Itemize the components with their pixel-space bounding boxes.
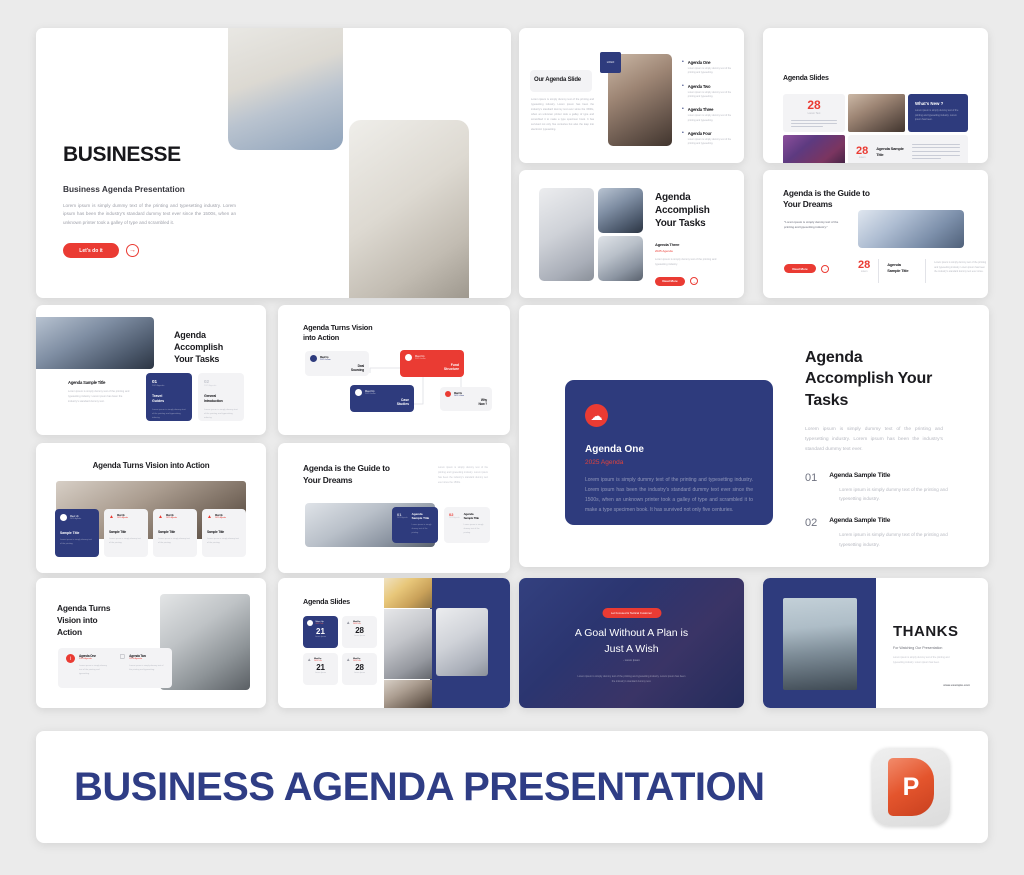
cover-cta-label: Let's do it (79, 248, 102, 254)
slide-quote[interactable]: Let Focused & Tactical Customer A Goal W… (519, 578, 744, 708)
card-body: Lorem ipsum is simply dummy text of the … (60, 538, 94, 546)
card-title: Agenda Sample Title (412, 512, 433, 520)
slide-vision-four[interactable]: Agenda Turns Vision into Action Meet Up … (36, 443, 266, 573)
card-dot-icon (60, 514, 67, 521)
accomplish-cards-photo (36, 317, 154, 369)
thanks-title: THANKS (893, 623, 959, 640)
stat-meta: 2025 Text (316, 623, 324, 625)
stat-card[interactable]: ▲ Meet Up 2025 Text 28 Lorem Ipsum (342, 653, 377, 685)
agenda-one-body: Lorem ipsum is simply dummy text of the … (585, 475, 753, 515)
bullet-icon: • (682, 84, 684, 100)
stat-meta: 2025 Text (353, 660, 361, 662)
stat-caption: Lorem (856, 157, 868, 159)
bullet-icon: • (682, 60, 684, 76)
our-agenda-title: Our Agenda Slide (534, 77, 581, 83)
accomplish-sub-label: Agenda Three (655, 242, 735, 247)
item-body: Lorem ipsum is simply dummy text of the … (829, 485, 955, 503)
card-meta: 2025 Agenda (204, 385, 238, 387)
stat-caption: Lorem Ipsum (346, 635, 373, 637)
our-agenda-body: Lorem ipsum is simply dummy text of the … (531, 98, 594, 132)
slide-thanks[interactable]: THANKS For Watching Our Presentation Lor… (763, 578, 988, 708)
node-meta: 2025 Lorem (365, 393, 376, 395)
card-title: Sample Title (207, 530, 241, 534)
guide-quote: "Lorem ipsum is simply dummy text of the… (784, 220, 839, 230)
card-number: 02 (204, 379, 238, 384)
vision-card[interactable]: Meet Up 2025 Agenda Sample Title Lorem i… (55, 509, 99, 557)
guide-split-title: Agenda is the Guide to Your Dreams (303, 463, 390, 487)
bookmark-icon: ▢ (120, 654, 126, 682)
info-card[interactable]: 01 2025 Agenda Travel Guides Lorem ipsum… (146, 373, 192, 421)
item-title: Agenda Sample Title (829, 472, 955, 479)
card-body: Lorem ipsum is simply dummy text of the … (109, 537, 143, 545)
stat-card[interactable]: ▲ Meet Up 2025 Text 21 Lorem Ipsum (303, 653, 338, 685)
bullet-icon: • (682, 131, 684, 147)
stat-caption: Lorem Ipsum (307, 672, 334, 674)
stat-dot-icon (307, 620, 313, 626)
panel-item-body: Lorem ipsum is simply dummy text of the … (79, 664, 111, 676)
sample-stat-row[interactable]: 28 Lorem Agenda Sample Title (848, 135, 968, 163)
title-banner: BUSINESS AGENDA PRESENTATION P (36, 731, 988, 843)
node-dot-icon (405, 354, 412, 361)
split-card[interactable]: 01 2025 Agenda Agenda Sample Title Lorem… (392, 507, 438, 543)
vision-card[interactable]: ▲ Meet Up 2025 Agenda Sample Title Lorem… (104, 509, 148, 557)
thanks-website[interactable]: www.example.com (943, 683, 970, 687)
node-title: Deal Sourcing (310, 364, 364, 373)
card-title: General Introduction (204, 394, 238, 404)
list-item-label: Agenda Three (688, 107, 737, 112)
agenda-one-title: Agenda One (585, 444, 753, 455)
stats-title: Agenda Slides (303, 597, 350, 606)
node-dot-icon (445, 391, 451, 397)
stat-meta: 2025 Text (353, 623, 361, 625)
guide-split-body: Lorem ipsum is simply dummy text of the … (438, 465, 488, 485)
card-body: Lorem ipsum is simply dummy text of the … (464, 524, 485, 536)
thanks-subtitle: For Watching Our Presentation (893, 646, 942, 650)
slide-accomplish-photos[interactable]: Agenda Accomplish Your Tasks Agenda Thre… (519, 170, 744, 298)
list-item[interactable]: • Agenda Four Lorem ipsum is simply dumm… (682, 131, 737, 147)
cover-body: Lorem ipsum is simply dummy text of the … (63, 202, 236, 227)
cover-cta-button[interactable]: Let's do it (63, 243, 119, 258)
vision-photo-panel[interactable]: i Agenda One 2025 Agenda Lorem ipsum is … (58, 648, 172, 688)
item-number: 01 (805, 472, 817, 503)
arrow-circle-icon[interactable]: → (126, 244, 139, 257)
whats-new-card[interactable]: What's New ? Lorem ipsum is simply dummy… (908, 94, 968, 132)
item-body: Lorem ipsum is simply dummy text of the … (829, 530, 955, 548)
node-dot-icon (310, 355, 317, 362)
cover-title: BUSINESSE (63, 143, 243, 167)
list-item[interactable]: • Agenda Three Lorem ipsum is simply dum… (682, 107, 737, 123)
stat-number: 28 (346, 663, 373, 672)
guide-photo-handshake (858, 210, 964, 248)
thanks-body: Lorem ipsum is simply dummy text of the … (893, 655, 961, 665)
banner-title: BUSINESS AGENDA PRESENTATION (74, 765, 765, 810)
card-number: 01 (152, 379, 186, 384)
guide-cta-label: Read More (792, 267, 807, 271)
card-body: Lorem ipsum is simply dummy text of the … (207, 537, 241, 545)
slide-our-agenda[interactable]: Our Agenda Slide Lorem ipsum is simply d… (519, 28, 744, 163)
flow-node[interactable]: Meet Up 2025 Lorem Deal Sourcing (305, 351, 369, 376)
card-body: Lorem ipsum is simply dummy text of the … (152, 408, 186, 421)
guide-body: Lorem ipsum is simply dummy text of the … (934, 259, 986, 275)
arrow-circle-icon[interactable]: → (821, 265, 829, 273)
feature-body: Lorem ipsum is simply dummy text of the … (805, 425, 943, 455)
accomplish-cta-label: Read More (662, 279, 677, 283)
list-item-label: Agenda Two (688, 84, 737, 89)
card-title: Sample Title (109, 530, 143, 534)
stat-number: 28 (856, 145, 868, 157)
card-dot-icon: ▲ (158, 514, 163, 520)
whats-new-title: What's New ? (915, 101, 961, 106)
stat-number: 21 (307, 627, 334, 636)
list-item-label: Agenda One (688, 60, 737, 65)
card-title: Sample Title (158, 530, 192, 534)
node-meta: 2025 Lorem (320, 359, 331, 361)
stats-photo-group (384, 680, 432, 708)
card-dot-icon: ▲ (207, 514, 212, 520)
accomplish-sub-meta: 2025 Agenda (655, 249, 735, 253)
divider (878, 259, 879, 283)
powerpoint-icon-letter: P (888, 758, 934, 816)
list-item-desc: Lorem ipsum is simply dummy text of the … (688, 67, 737, 76)
vision-photo-image (160, 594, 250, 690)
stat-meta: 2025 Text (314, 660, 322, 662)
flow-node[interactable]: Meet Up 2025 Lorem Why Now ? (440, 387, 492, 411)
quote-badge-label: Let Focused & Tactical Customer (611, 611, 652, 615)
cover-subtitle: Business Agenda Presentation (63, 184, 243, 194)
quote-body: Lorem ipsum is simply dummy text of the … (577, 674, 687, 684)
numbered-item[interactable]: 02 Agenda Sample Title Lorem ipsum is si… (805, 517, 955, 548)
guide-stat-title: Agenda Sample Title (887, 259, 917, 274)
card-meta: 2025 Agenda (117, 517, 128, 519)
quote-attribution: - Lorem Ipsum (519, 659, 744, 662)
guide-title: Agenda is the Guide to Your Dreams (783, 188, 870, 211)
card-body: Lorem ipsum is simply dummy text of the … (412, 524, 433, 536)
card-title: Agenda Sample Title (464, 512, 485, 520)
stat-card[interactable]: ▲ Meet Up 2025 Text 28 Lorem Ipsum (342, 616, 377, 648)
agenda-one-meta: 2025 Agenda (585, 459, 753, 466)
grid-photo-event (783, 135, 845, 163)
quote-badge: Let Focused & Tactical Customer (602, 608, 661, 618)
cover-photo-desk (349, 120, 469, 298)
slide-accomplish-cards[interactable]: Agenda Accomplish Your Tasks Agenda Samp… (36, 305, 266, 435)
numbered-item[interactable]: 01 Agenda Sample Title Lorem ipsum is si… (805, 472, 955, 503)
our-agenda-logo-badge: LOGO (600, 52, 621, 73)
list-item[interactable]: • Agenda Two Lorem ipsum is simply dummy… (682, 84, 737, 100)
lead-title: Agenda Sample Title (68, 380, 130, 385)
stat-dot-icon: ▲ (346, 657, 350, 662)
flow-node[interactable]: Meet Up 2025 Lorem Fund Structure (400, 350, 464, 377)
info-card[interactable]: 02 2025 Agenda General Introduction Lore… (198, 373, 244, 421)
list-item-desc: Lorem ipsum is simply dummy text of the … (688, 91, 737, 100)
guide-stat-number: 28 (858, 259, 870, 271)
slide-cover[interactable]: BUSINESSE Business Agenda Presentation L… (36, 28, 511, 298)
list-item-desc: Lorem ipsum is simply dummy text of the … (688, 138, 737, 147)
quote-text: A Goal Without A Plan is Just A Wish (519, 626, 744, 658)
slide-vision-flow[interactable]: Agenda Turns Vision into Action Meet Up … (278, 305, 510, 435)
agenda-one-card[interactable]: ☁ Agenda One 2025 Agenda Lorem ipsum is … (565, 380, 773, 525)
card-meta: 2025 Agenda (397, 517, 408, 519)
agenda-slides-title: Agenda Slides (783, 75, 829, 82)
stats-photo-notebook (436, 608, 488, 676)
stat-caption: Lorem Ipsum (346, 672, 373, 674)
node-title: Case Studies (355, 398, 409, 407)
list-item-desc: Lorem ipsum is simply dummy text of the … (688, 114, 737, 123)
node-meta: 2025 Lorem (415, 358, 426, 360)
stat-dot-icon: ▲ (346, 620, 350, 625)
powerpoint-icon: P (872, 748, 950, 826)
vision-card[interactable]: ▲ Meet Up 2025 Agenda Sample Title Lorem… (153, 509, 197, 557)
presentation-preview-page: BUSINESSE Business Agenda Presentation L… (0, 0, 1024, 875)
item-number: 02 (805, 517, 817, 548)
guide-stat-caption: Lorem (858, 271, 870, 273)
slide-vision-photo[interactable]: Agenda Turns Vision into Action i Agenda… (36, 578, 266, 708)
stat-tile[interactable]: 28 Lorem Text (783, 94, 845, 132)
card-body: Lorem ipsum is simply dummy text of the … (158, 537, 192, 545)
node-title: Fund Structure (405, 363, 459, 372)
stats-photo-sticky (384, 578, 432, 608)
panel-item-body: Lorem ipsum is simply dummy text of the … (129, 664, 164, 672)
slide-guide-dreams-split[interactable]: Agenda is the Guide to Your Dreams Lorem… (278, 443, 510, 573)
item-title: Agenda Sample Title (829, 517, 955, 524)
card-meta: 2025 Agenda (152, 385, 186, 387)
accomplish-body: Lorem ipsum is simply dummy text of the … (655, 258, 719, 268)
stat-card[interactable]: Meet Up 2025 Text 21 Lorem Ipsum (303, 616, 338, 648)
split-card[interactable]: 02 2025 Agenda Agenda Sample Title Lorem… (444, 507, 490, 543)
slide-agenda-one-feature[interactable]: ☁ Agenda One 2025 Agenda Lorem ipsum is … (519, 305, 989, 567)
arrow-circle-icon[interactable]: → (690, 277, 698, 285)
cloud-download-icon: ☁ (585, 404, 608, 427)
info-circle-icon: i (66, 654, 75, 663)
stat-dot-icon: ▲ (307, 657, 311, 662)
slide-agenda-slides-stats[interactable]: Agenda Slides Meet Up 2025 Text 21 Lorem… (278, 578, 510, 708)
list-item[interactable]: • Agenda One Lorem ipsum is simply dummy… (682, 60, 737, 76)
node-meta: 2025 Lorem (454, 395, 464, 397)
whats-new-body: Lorem ipsum is simply dummy text of the … (915, 109, 961, 123)
node-dot-icon (355, 389, 362, 396)
card-meta: 2025 Agenda (449, 517, 460, 519)
stat-caption: Lorem Ipsum (307, 636, 334, 638)
card-title: Travel Guides (152, 394, 186, 404)
accomplish-cards-title: Agenda Accomplish Your Tasks (174, 330, 223, 366)
bullet-icon: • (682, 107, 684, 123)
panel-item-meta: 2025 Agenda (129, 658, 164, 660)
vision-four-title: Agenda Turns Vision into Action (36, 461, 266, 470)
vision-card[interactable]: ▲ Meet Up 2025 Agenda Sample Title Lorem… (202, 509, 246, 557)
stats-photo-desk (384, 609, 432, 679)
vision-photo-title: Agenda Turns Vision into Action (57, 603, 110, 639)
thanks-photo-building (783, 598, 857, 690)
card-meta: 2025 Agenda (70, 518, 81, 520)
accomplish-title: Agenda Accomplish Your Tasks (655, 192, 735, 230)
card-body: Lorem ipsum is simply dummy text of the … (204, 408, 238, 421)
card-meta: 2025 Agenda (166, 517, 177, 519)
list-item-label: Agenda Four (688, 131, 737, 136)
accomplish-photo-team (598, 188, 643, 233)
flow-node[interactable]: Meet Up 2025 Lorem Case Studies (350, 385, 414, 412)
card-meta: 2025 Agenda (215, 517, 226, 519)
divider (925, 259, 926, 283)
feature-title: Agenda Accomplish Your Tasks (805, 347, 955, 411)
panel-item-meta: 2025 Agenda (79, 658, 111, 660)
node-title: Why Now ? (445, 398, 487, 406)
accomplish-photo-office (598, 236, 643, 281)
slide-agenda-slides-grid[interactable]: Agenda Slides 28 Lorem Text What's New ?… (763, 28, 988, 163)
card-title: Sample Title (60, 531, 94, 535)
accomplish-photo-cards (539, 188, 594, 281)
cover-photo-board (228, 28, 343, 150)
stat-number: 28 (346, 626, 373, 635)
grid-photo-meeting (848, 94, 905, 132)
accomplish-cta-button[interactable]: Read More (655, 277, 685, 286)
stat-number: 21 (307, 663, 334, 672)
sample-title: Agenda Sample Title (876, 146, 904, 157)
lead-body: Lorem ipsum is simply dummy text of the … (68, 389, 130, 404)
stat-number: 28 (783, 98, 845, 112)
guide-cta-button[interactable]: Read More (784, 264, 816, 273)
slide-guide-dreams-wide[interactable]: Agenda is the Guide to Your Dreams "Lore… (763, 170, 988, 298)
card-dot-icon: ▲ (109, 514, 114, 520)
